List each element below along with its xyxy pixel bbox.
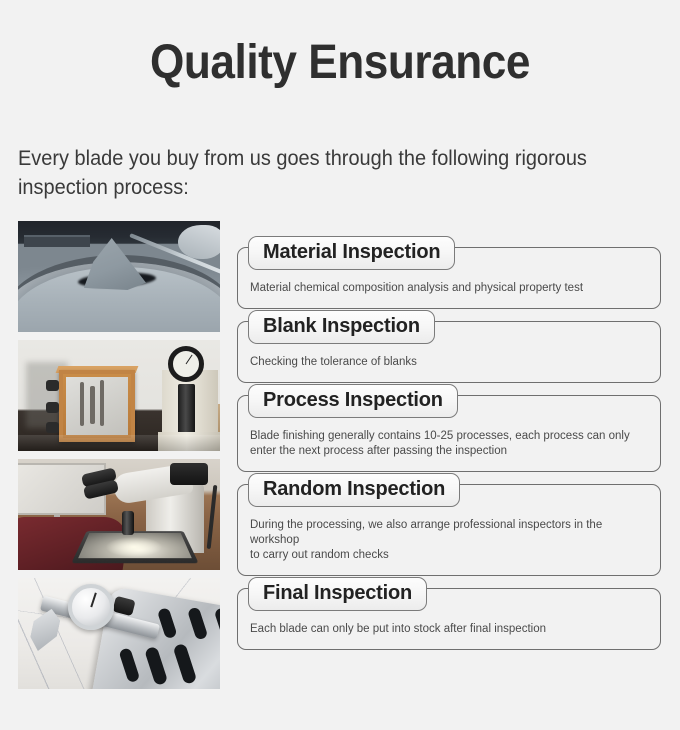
- instrument-rod-shape: [90, 386, 95, 424]
- stage-light-glow: [106, 537, 162, 557]
- step-title-process-inspection: Process Inspection: [248, 384, 458, 418]
- step-description-line: During the processing, we also arrange p…: [250, 518, 648, 548]
- step-title-random-inspection: Random Inspection: [248, 473, 460, 507]
- step-description-line: to carry out random checks: [250, 548, 648, 563]
- quality-assurance-page: { "header": { "title": "Quality Ensuranc…: [0, 0, 680, 730]
- step-description: Each blade can only be put into stock af…: [250, 622, 648, 637]
- instrument-rod-shape: [80, 382, 84, 426]
- background-panel-shape: [24, 235, 90, 247]
- photo-final-measurement: [18, 578, 220, 689]
- cabinet-knob-shape: [46, 402, 59, 413]
- step-description: Material chemical composition analysis a…: [250, 281, 648, 296]
- step-description-line: Blade finishing generally contains 10-25…: [250, 429, 648, 444]
- blade-slot-shape: [144, 646, 168, 686]
- step-description-line: Each blade can only be put into stock af…: [250, 622, 648, 637]
- dial-gauge-icon: [168, 346, 204, 382]
- cabinet-glass-shape: [66, 377, 128, 435]
- cable-shape: [207, 485, 218, 549]
- step-description-line: Material chemical composition analysis a…: [250, 281, 648, 296]
- cabinet-knob-shape: [46, 422, 59, 433]
- camera-module-shape: [170, 463, 208, 485]
- step-description-line: Checking the tolerance of blanks: [250, 355, 648, 370]
- inspection-step-card: Process Inspection Blade finishing gener…: [237, 395, 661, 472]
- inspection-steps-list: Material Inspection Material chemical co…: [237, 247, 661, 650]
- step-description: Blade finishing generally contains 10-25…: [250, 429, 648, 459]
- step-title-blank-inspection: Blank Inspection: [248, 310, 435, 344]
- floor-reflection-shape: [18, 435, 220, 451]
- instrument-rod-shape: [100, 380, 104, 426]
- blade-slot-shape: [214, 607, 220, 639]
- cabinet-knob-shape: [46, 380, 59, 391]
- page-title: Quality Ensurance: [27, 37, 653, 90]
- caliper-dial-icon: [68, 584, 114, 630]
- step-title-material-inspection: Material Inspection: [248, 236, 455, 270]
- photo-microscope: [18, 459, 220, 570]
- glove-shape: [178, 225, 220, 259]
- step-description-line: enter the next process after passing the…: [250, 444, 648, 459]
- step-description: Checking the tolerance of blanks: [250, 355, 648, 370]
- photo-hardness-tester: [18, 340, 220, 451]
- inspection-step-card: Random Inspection During the processing,…: [237, 484, 661, 576]
- inspection-step-card: Final Inspection Each blade can only be …: [237, 588, 661, 650]
- step-description: During the processing, we also arrange p…: [250, 518, 648, 563]
- objective-lens-shape: [122, 511, 134, 535]
- photo-material-powder: [18, 221, 220, 332]
- blade-slot-shape: [187, 606, 208, 640]
- wooden-cabinet-shape: [59, 370, 135, 442]
- inspection-step-card: Material Inspection Material chemical co…: [237, 247, 661, 309]
- inspection-photo-column: [18, 221, 220, 689]
- blade-slot-shape: [173, 643, 198, 685]
- blade-slot-shape: [157, 607, 178, 639]
- inspection-step-card: Blank Inspection Checking the tolerance …: [237, 321, 661, 383]
- step-title-final-inspection: Final Inspection: [248, 577, 427, 611]
- blade-slot-shape: [118, 647, 140, 683]
- page-subtitle: Every blade you buy from us goes through…: [18, 144, 634, 202]
